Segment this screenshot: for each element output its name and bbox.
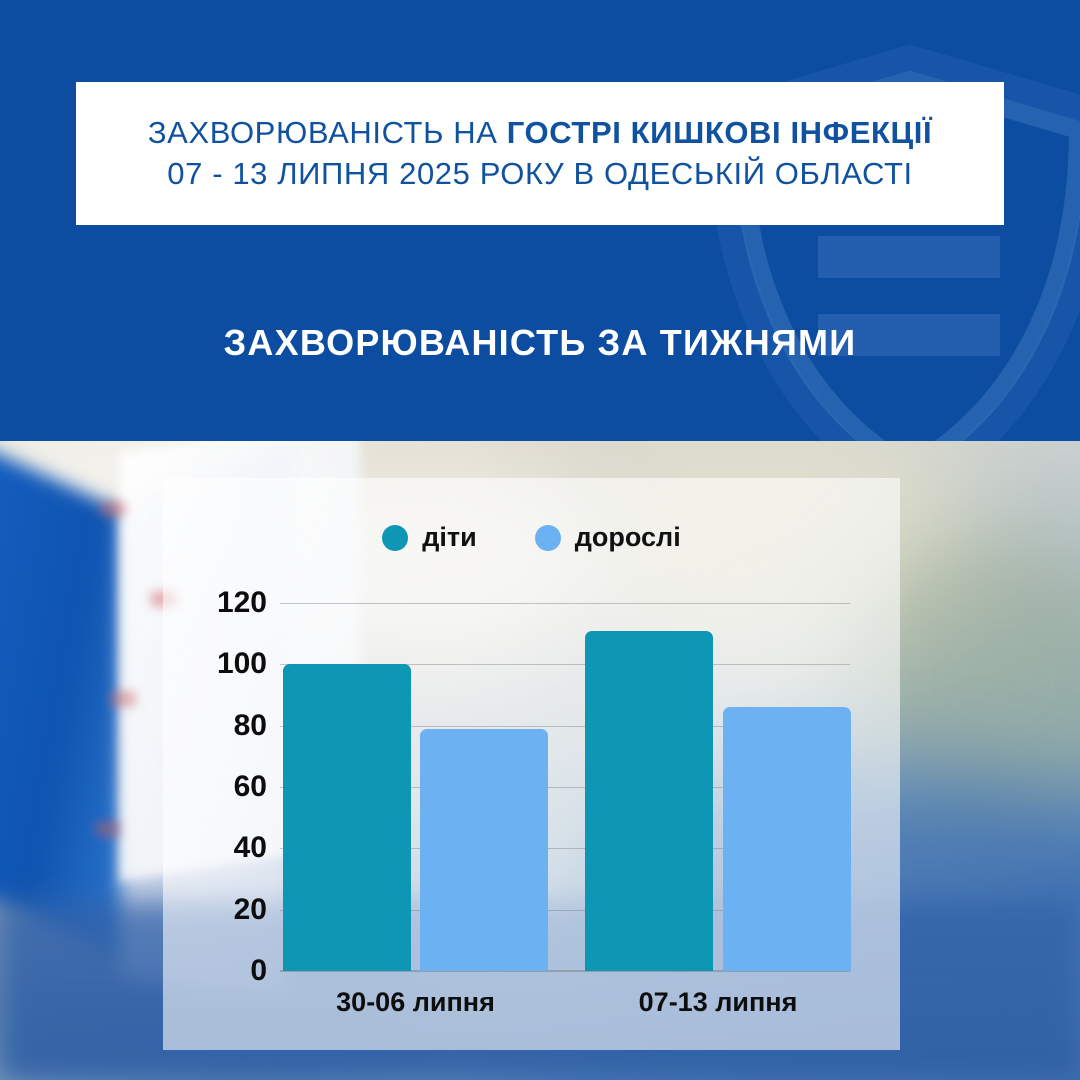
header-section: ЗАХВОРЮВАНІСТЬ НА ГОСТРІ КИШКОВІ ІНФЕКЦІ… (0, 0, 1080, 441)
y-tick-label-80: 80 (171, 709, 267, 743)
gridline-120 (280, 603, 850, 604)
infographic-poster: ЗАХВОРЮВАНІСТЬ НА ГОСТРІ КИШКОВІ ІНФЕКЦІ… (0, 0, 1080, 1080)
title-emphasis: ГОСТРІ КИШКОВІ ІНФЕКЦІЇ (507, 115, 932, 150)
paper-mark (100, 501, 126, 517)
x-axis-label-week2: 07-13 липня (585, 987, 851, 1018)
page-title-line-1: ЗАХВОРЮВАНІСТЬ НА ГОСТРІ КИШКОВІ ІНФЕКЦІ… (148, 116, 932, 151)
y-tick-label-40: 40 (171, 831, 267, 865)
paper-mark (95, 821, 121, 837)
y-tick-label-60: 60 (171, 770, 267, 804)
bar-adults-week1[interactable] (420, 729, 548, 971)
page-title-line-2: 07 - 13 ЛИПНЯ 2025 РОКУ В ОДЕСЬКІЙ ОБЛАС… (167, 157, 912, 192)
y-tick-label-120: 120 (171, 586, 267, 620)
section-subtitle: ЗАХВОРЮВАНІСТЬ ЗА ТИЖНЯМИ (0, 322, 1080, 364)
plot-area: 120 100 80 60 40 20 0 30-06 липня 07-13 … (163, 478, 900, 1050)
bar-adults-week2[interactable] (723, 707, 851, 971)
chart-panel: діти дорослі 120 100 80 60 40 20 0 (163, 478, 900, 1050)
bar-children-week2[interactable] (585, 631, 713, 971)
title-prefix: ЗАХВОРЮВАНІСТЬ НА (148, 115, 507, 150)
y-tick-label-0: 0 (171, 954, 267, 988)
x-axis-label-week1: 30-06 липня (283, 987, 548, 1018)
y-tick-label-20: 20 (171, 893, 267, 927)
bar-children-week1[interactable] (283, 664, 411, 971)
title-card: ЗАХВОРЮВАНІСТЬ НА ГОСТРІ КИШКОВІ ІНФЕКЦІ… (76, 82, 1004, 225)
y-tick-label-100: 100 (171, 647, 267, 681)
paper-mark (110, 691, 136, 707)
